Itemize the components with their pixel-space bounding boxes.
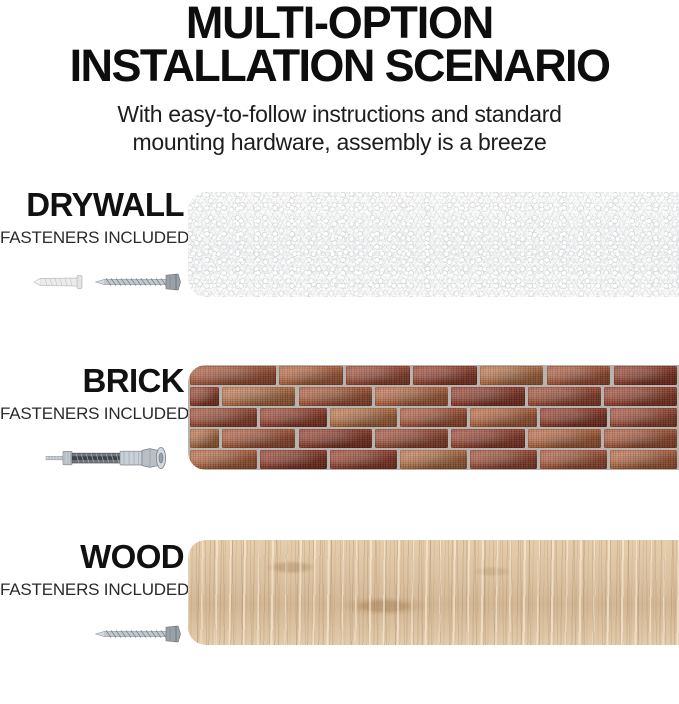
brick-unit — [190, 429, 219, 447]
material-panel-brick — [188, 365, 679, 470]
brick-unit — [222, 429, 295, 447]
brick-unit — [375, 429, 448, 447]
brick-unit — [470, 450, 537, 468]
brick-unit — [413, 366, 477, 384]
brick-unit — [330, 450, 397, 468]
wood-fastener-group — [0, 612, 184, 658]
section-drywall: DRYWALL FASTENERS INCLUDED — [0, 176, 679, 352]
brick-unit — [451, 387, 524, 405]
brick-unit — [260, 408, 327, 426]
brick-unit — [299, 429, 372, 447]
brick-unit — [614, 366, 678, 384]
installation-sections: DRYWALL FASTENERS INCLUDED — [0, 176, 679, 704]
brick-unit — [279, 366, 343, 384]
brick-unit — [400, 408, 467, 426]
brick-unit — [330, 408, 397, 426]
section-wood-labels: WOOD FASTENERS INCLUDED — [0, 540, 184, 600]
brick-unit — [190, 387, 219, 405]
brick-unit — [451, 429, 524, 447]
section-drywall-fasteners — [0, 260, 184, 306]
drywall-fastener-group — [0, 260, 184, 306]
section-wood-subtitle: FASTENERS INCLUDED — [0, 580, 184, 600]
brick-unit — [375, 387, 448, 405]
brick-unit — [480, 366, 544, 384]
section-brick-labels: BRICK FASTENERS INCLUDED — [0, 364, 184, 424]
brick-courses — [188, 365, 679, 470]
section-drywall-title: DRYWALL — [0, 188, 184, 223]
page-title: MULTI-OPTION INSTALLATION SCENARIO — [20, 2, 660, 88]
brick-unit — [547, 366, 611, 384]
section-drywall-labels: DRYWALL FASTENERS INCLUDED — [0, 188, 184, 248]
brick-unit — [400, 450, 467, 468]
brick-course — [188, 428, 679, 449]
brick-unit — [190, 366, 276, 384]
material-panel-drywall — [188, 192, 679, 297]
brick-unit — [528, 429, 601, 447]
page-title-line-2: INSTALLATION SCENARIO — [20, 45, 660, 88]
section-wood-title: WOOD — [0, 540, 184, 575]
brick-unit — [260, 450, 327, 468]
page-subtitle-line-1: With easy-to-follow instructions and sta… — [40, 100, 640, 129]
brick-course — [188, 407, 679, 428]
brick-unit — [604, 429, 677, 447]
brick-unit — [470, 408, 537, 426]
screw-icon — [96, 274, 181, 290]
brick-unit — [540, 450, 607, 468]
brick-unit — [604, 387, 677, 405]
section-wood: WOOD FASTENERS INCLUDED — [0, 528, 679, 704]
section-wood-fasteners — [0, 612, 184, 658]
screw-icon — [96, 626, 181, 642]
brick-unit — [346, 366, 410, 384]
page-subtitle: With easy-to-follow instructions and sta… — [40, 100, 640, 158]
brick-course — [188, 386, 679, 407]
brick-unit — [540, 408, 607, 426]
header: MULTI-OPTION INSTALLATION SCENARIO With … — [0, 0, 679, 157]
plastic-wall-anchor-icon — [34, 276, 82, 289]
section-brick: BRICK FASTENERS INCLUDED — [0, 352, 679, 528]
page-subtitle-line-2: mounting hardware, assembly is a breeze — [40, 128, 640, 157]
brick-unit — [190, 450, 257, 468]
brick-unit — [610, 408, 677, 426]
section-drywall-subtitle: FASTENERS INCLUDED — [0, 228, 184, 248]
material-panel-wood — [188, 540, 679, 645]
brick-fastener-group — [0, 436, 184, 482]
brick-unit — [299, 387, 372, 405]
brick-unit — [190, 408, 257, 426]
brick-course — [188, 449, 679, 470]
section-brick-subtitle: FASTENERS INCLUDED — [0, 404, 184, 424]
brick-unit — [610, 450, 677, 468]
page-title-line-1: MULTI-OPTION — [20, 2, 660, 45]
sleeve-anchor-bolt-icon — [46, 447, 166, 468]
brick-unit — [222, 387, 295, 405]
brick-course — [188, 365, 679, 386]
brick-unit — [528, 387, 601, 405]
section-brick-title: BRICK — [0, 364, 184, 399]
section-brick-fasteners — [0, 436, 184, 482]
